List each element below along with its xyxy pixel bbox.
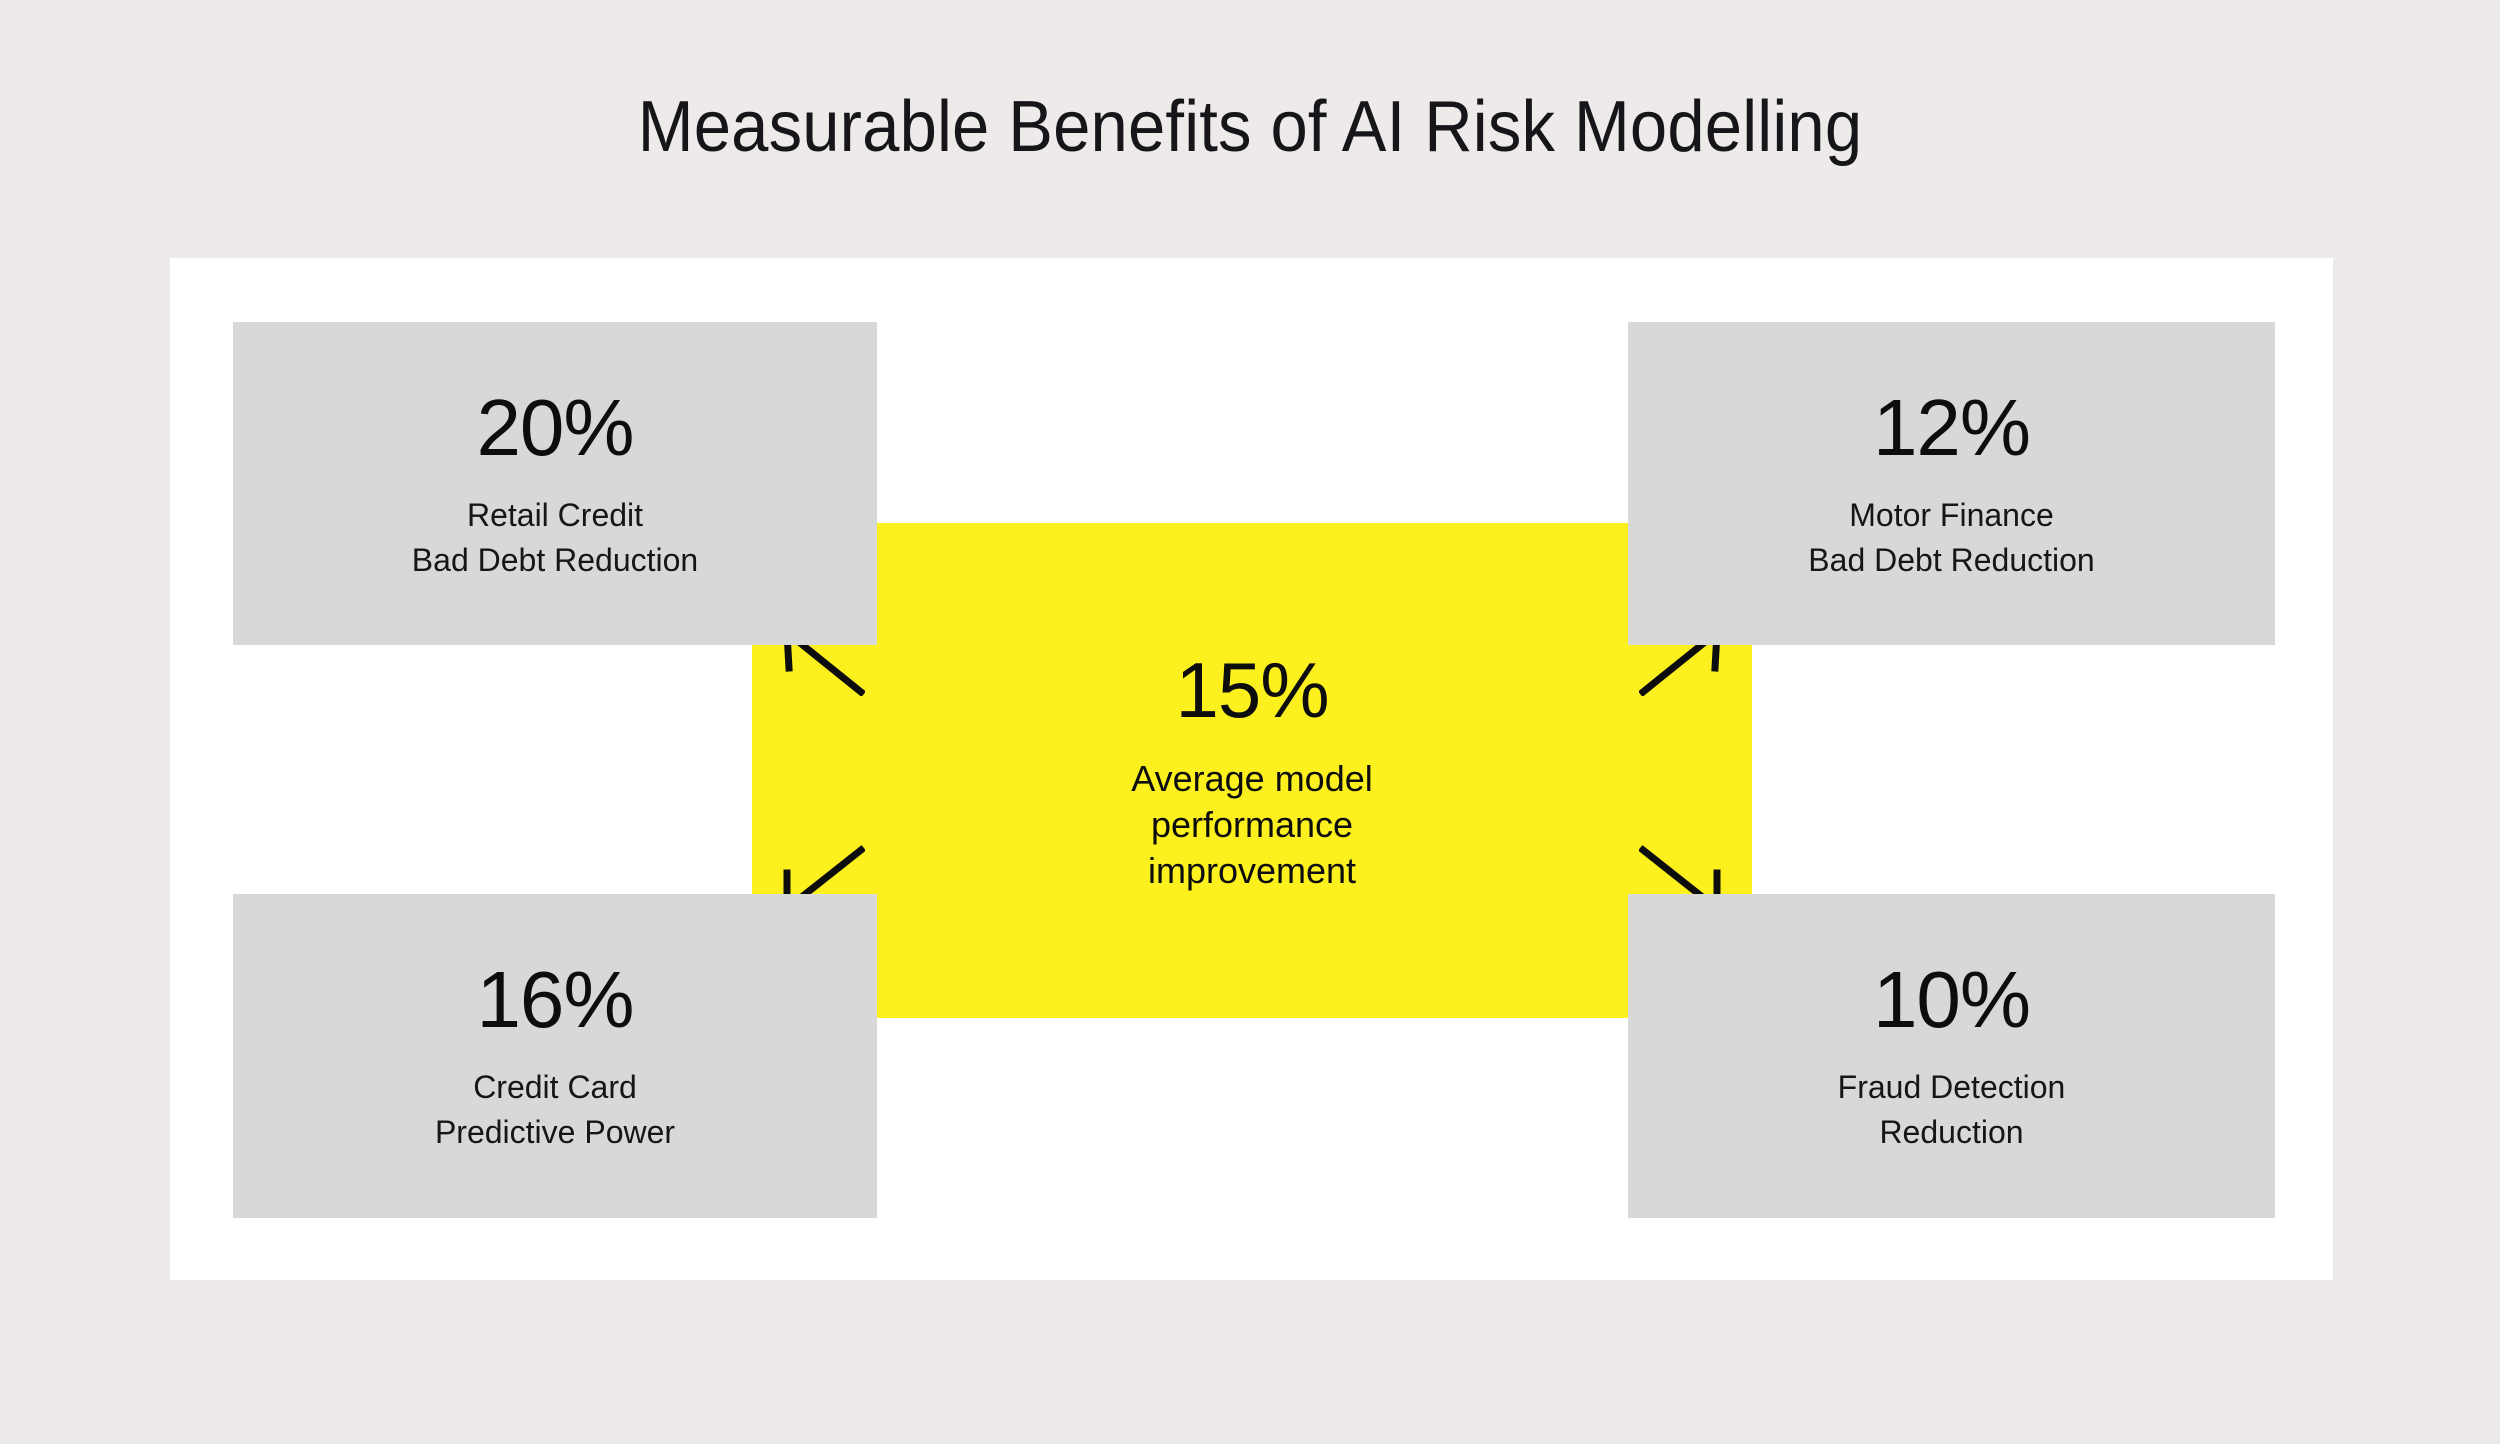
center-label-line-1: Average model xyxy=(1131,756,1373,802)
stat-label-top-right: Motor Finance Bad Debt Reduction xyxy=(1808,493,2094,583)
stat-label-line-2: Predictive Power xyxy=(435,1110,675,1155)
center-highlight-block: 15% Average model performance improvemen… xyxy=(752,523,1752,1018)
center-label-line-2: performance xyxy=(1131,802,1373,848)
stat-label-line-2: Bad Debt Reduction xyxy=(412,538,698,583)
page-title: Measurable Benefits of AI Risk Modelling xyxy=(88,84,2413,170)
stat-label-line-2: Bad Debt Reduction xyxy=(1808,538,2094,583)
stat-card-top-left[interactable]: 20% Retail Credit Bad Debt Reduction xyxy=(233,322,877,645)
stat-label-top-left: Retail Credit Bad Debt Reduction xyxy=(412,493,698,583)
stat-label-line-2: Reduction xyxy=(1838,1110,2066,1155)
stat-card-bottom-left[interactable]: 16% Credit Card Predictive Power xyxy=(233,894,877,1218)
center-value: 15% xyxy=(1175,648,1328,732)
stat-card-bottom-right[interactable]: 10% Fraud Detection Reduction xyxy=(1628,894,2275,1218)
stat-label-bottom-right: Fraud Detection Reduction xyxy=(1838,1065,2066,1155)
stat-card-top-right[interactable]: 12% Motor Finance Bad Debt Reduction xyxy=(1628,322,2275,645)
stat-label-line-1: Retail Credit xyxy=(412,493,698,538)
stat-value-top-right: 12% xyxy=(1873,385,2030,471)
stat-label-line-1: Credit Card xyxy=(435,1065,675,1110)
stat-label-line-1: Fraud Detection xyxy=(1838,1065,2066,1110)
center-label-line-3: improvement xyxy=(1131,848,1373,894)
stat-value-bottom-left: 16% xyxy=(476,957,633,1043)
stat-value-top-left: 20% xyxy=(476,385,633,471)
stat-value-bottom-right: 10% xyxy=(1873,957,2030,1043)
center-content: 15% Average model performance improvemen… xyxy=(752,523,1752,1018)
center-label: Average model performance improvement xyxy=(1131,756,1373,894)
diagram-panel: 15% Average model performance improvemen… xyxy=(170,258,2333,1280)
stat-label-line-1: Motor Finance xyxy=(1808,493,2094,538)
stat-label-bottom-left: Credit Card Predictive Power xyxy=(435,1065,675,1155)
